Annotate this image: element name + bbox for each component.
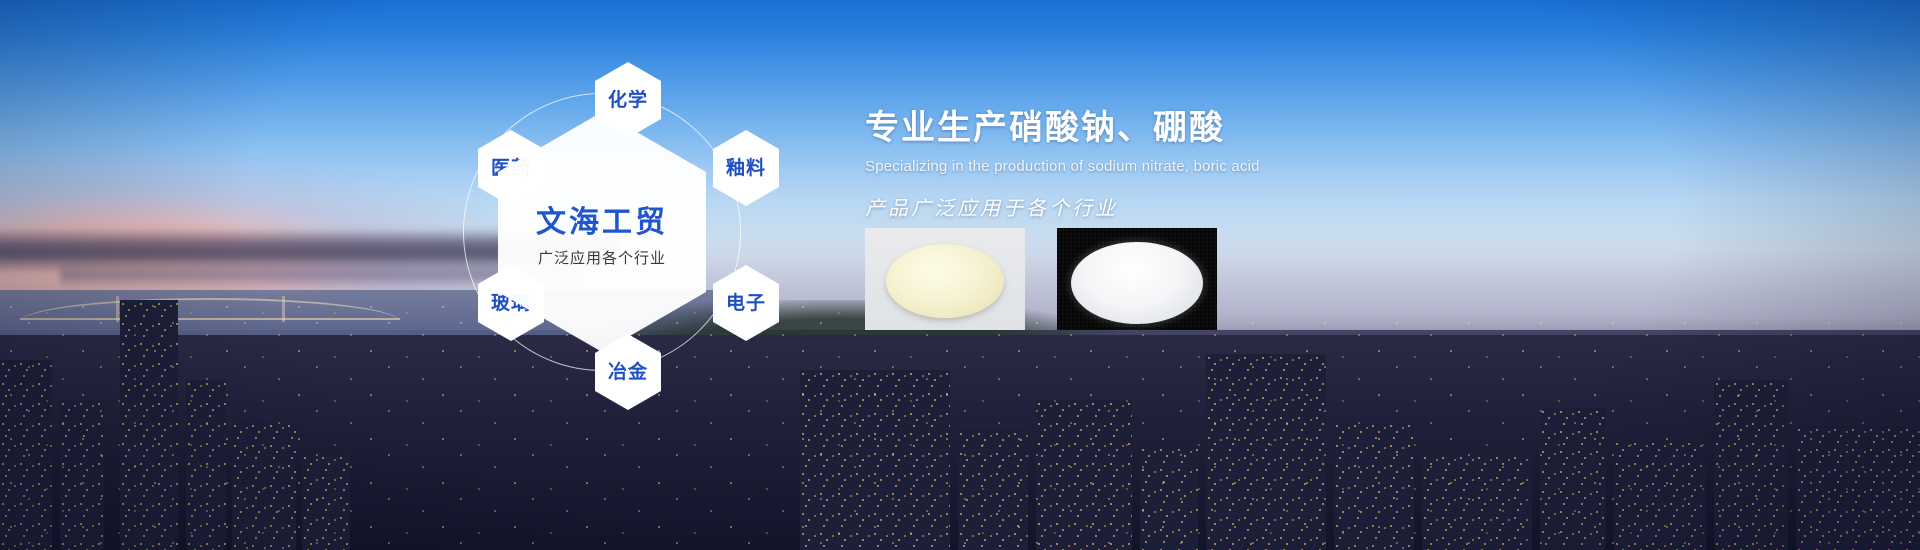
subheadline-en: Specializing in the production of sodium… <box>865 158 1485 175</box>
product-photos <box>865 228 1217 330</box>
headline: 专业生产硝酸钠、硼酸 <box>865 100 1485 149</box>
hex-node-label: 化学 <box>608 91 648 110</box>
hex-node-label: 冶金 <box>608 363 648 382</box>
hex-node-label: 釉料 <box>726 159 766 178</box>
product-photo-boric-acid <box>1057 228 1217 330</box>
powder-pile <box>1071 242 1203 324</box>
powder-pile <box>886 244 1004 318</box>
brand-tagline: 广泛应用各个行业 <box>538 247 666 268</box>
brand-name: 文海工贸 <box>536 197 668 241</box>
tagline: 产品广泛应用于各个行业 <box>865 192 1485 221</box>
product-photo-sodium-nitrate <box>865 228 1025 330</box>
hex-node-label: 电子 <box>726 294 766 313</box>
banner-copy: 专业生产硝酸钠、硼酸 Specializing in the productio… <box>865 100 1485 221</box>
hero-banner: 化学 釉料 电子 冶金 玻璃 医药 文海工贸 广泛应用各个行业 专业生产硝酸钠、… <box>0 0 1920 550</box>
industry-hex-diagram: 化学 釉料 电子 冶金 玻璃 医药 文海工贸 广泛应用各个行业 <box>392 22 812 442</box>
